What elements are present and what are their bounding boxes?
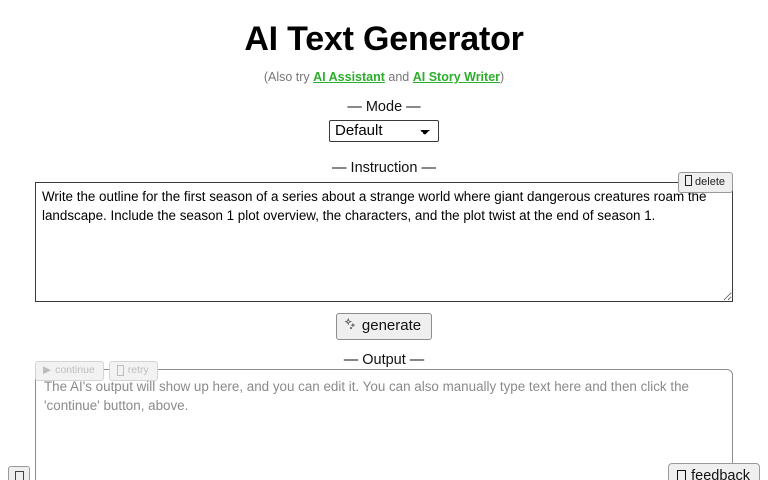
output-section: ▶ continue retry — [35, 369, 733, 480]
settings-corner-button[interactable] — [8, 466, 30, 480]
settings-icon — [15, 471, 24, 480]
trash-icon — [685, 175, 692, 186]
continue-button[interactable]: ▶ continue — [35, 361, 104, 381]
mode-heading: — Mode — — [0, 98, 768, 116]
sparkles-icon — [344, 318, 357, 334]
instruction-section: delete — [35, 182, 733, 302]
subtitle-middle: and — [385, 70, 413, 84]
play-icon: ▶ — [43, 364, 51, 377]
output-action-buttons: ▶ continue retry — [35, 361, 158, 381]
subtitle-prefix: (Also try — [264, 70, 313, 84]
retry-button[interactable]: retry — [109, 361, 158, 381]
link-ai-assistant[interactable]: AI Assistant — [313, 70, 385, 84]
instruction-input[interactable] — [35, 182, 733, 302]
generate-row: generate — [0, 313, 768, 340]
feedback-button[interactable]: feedback — [668, 463, 760, 480]
retry-icon — [117, 365, 124, 376]
retry-button-label: retry — [128, 364, 149, 377]
feedback-button-label: feedback — [691, 467, 750, 480]
delete-button-label: delete — [695, 176, 725, 188]
subtitle-suffix: ) — [500, 70, 504, 84]
generate-button-label: generate — [362, 317, 421, 335]
instruction-heading: — Instruction — — [0, 159, 768, 177]
output-input[interactable] — [35, 369, 733, 480]
generate-button[interactable]: generate — [336, 313, 432, 340]
mode-select[interactable]: Default — [329, 120, 439, 142]
mode-row: Default — [0, 120, 768, 142]
feedback-icon — [677, 470, 686, 480]
continue-button-label: continue — [55, 364, 95, 377]
link-ai-story-writer[interactable]: AI Story Writer — [413, 70, 500, 84]
delete-button[interactable]: delete — [678, 172, 733, 193]
subtitle: (Also try AI Assistant and AI Story Writ… — [0, 69, 768, 85]
page-title: AI Text Generator — [0, 18, 768, 60]
